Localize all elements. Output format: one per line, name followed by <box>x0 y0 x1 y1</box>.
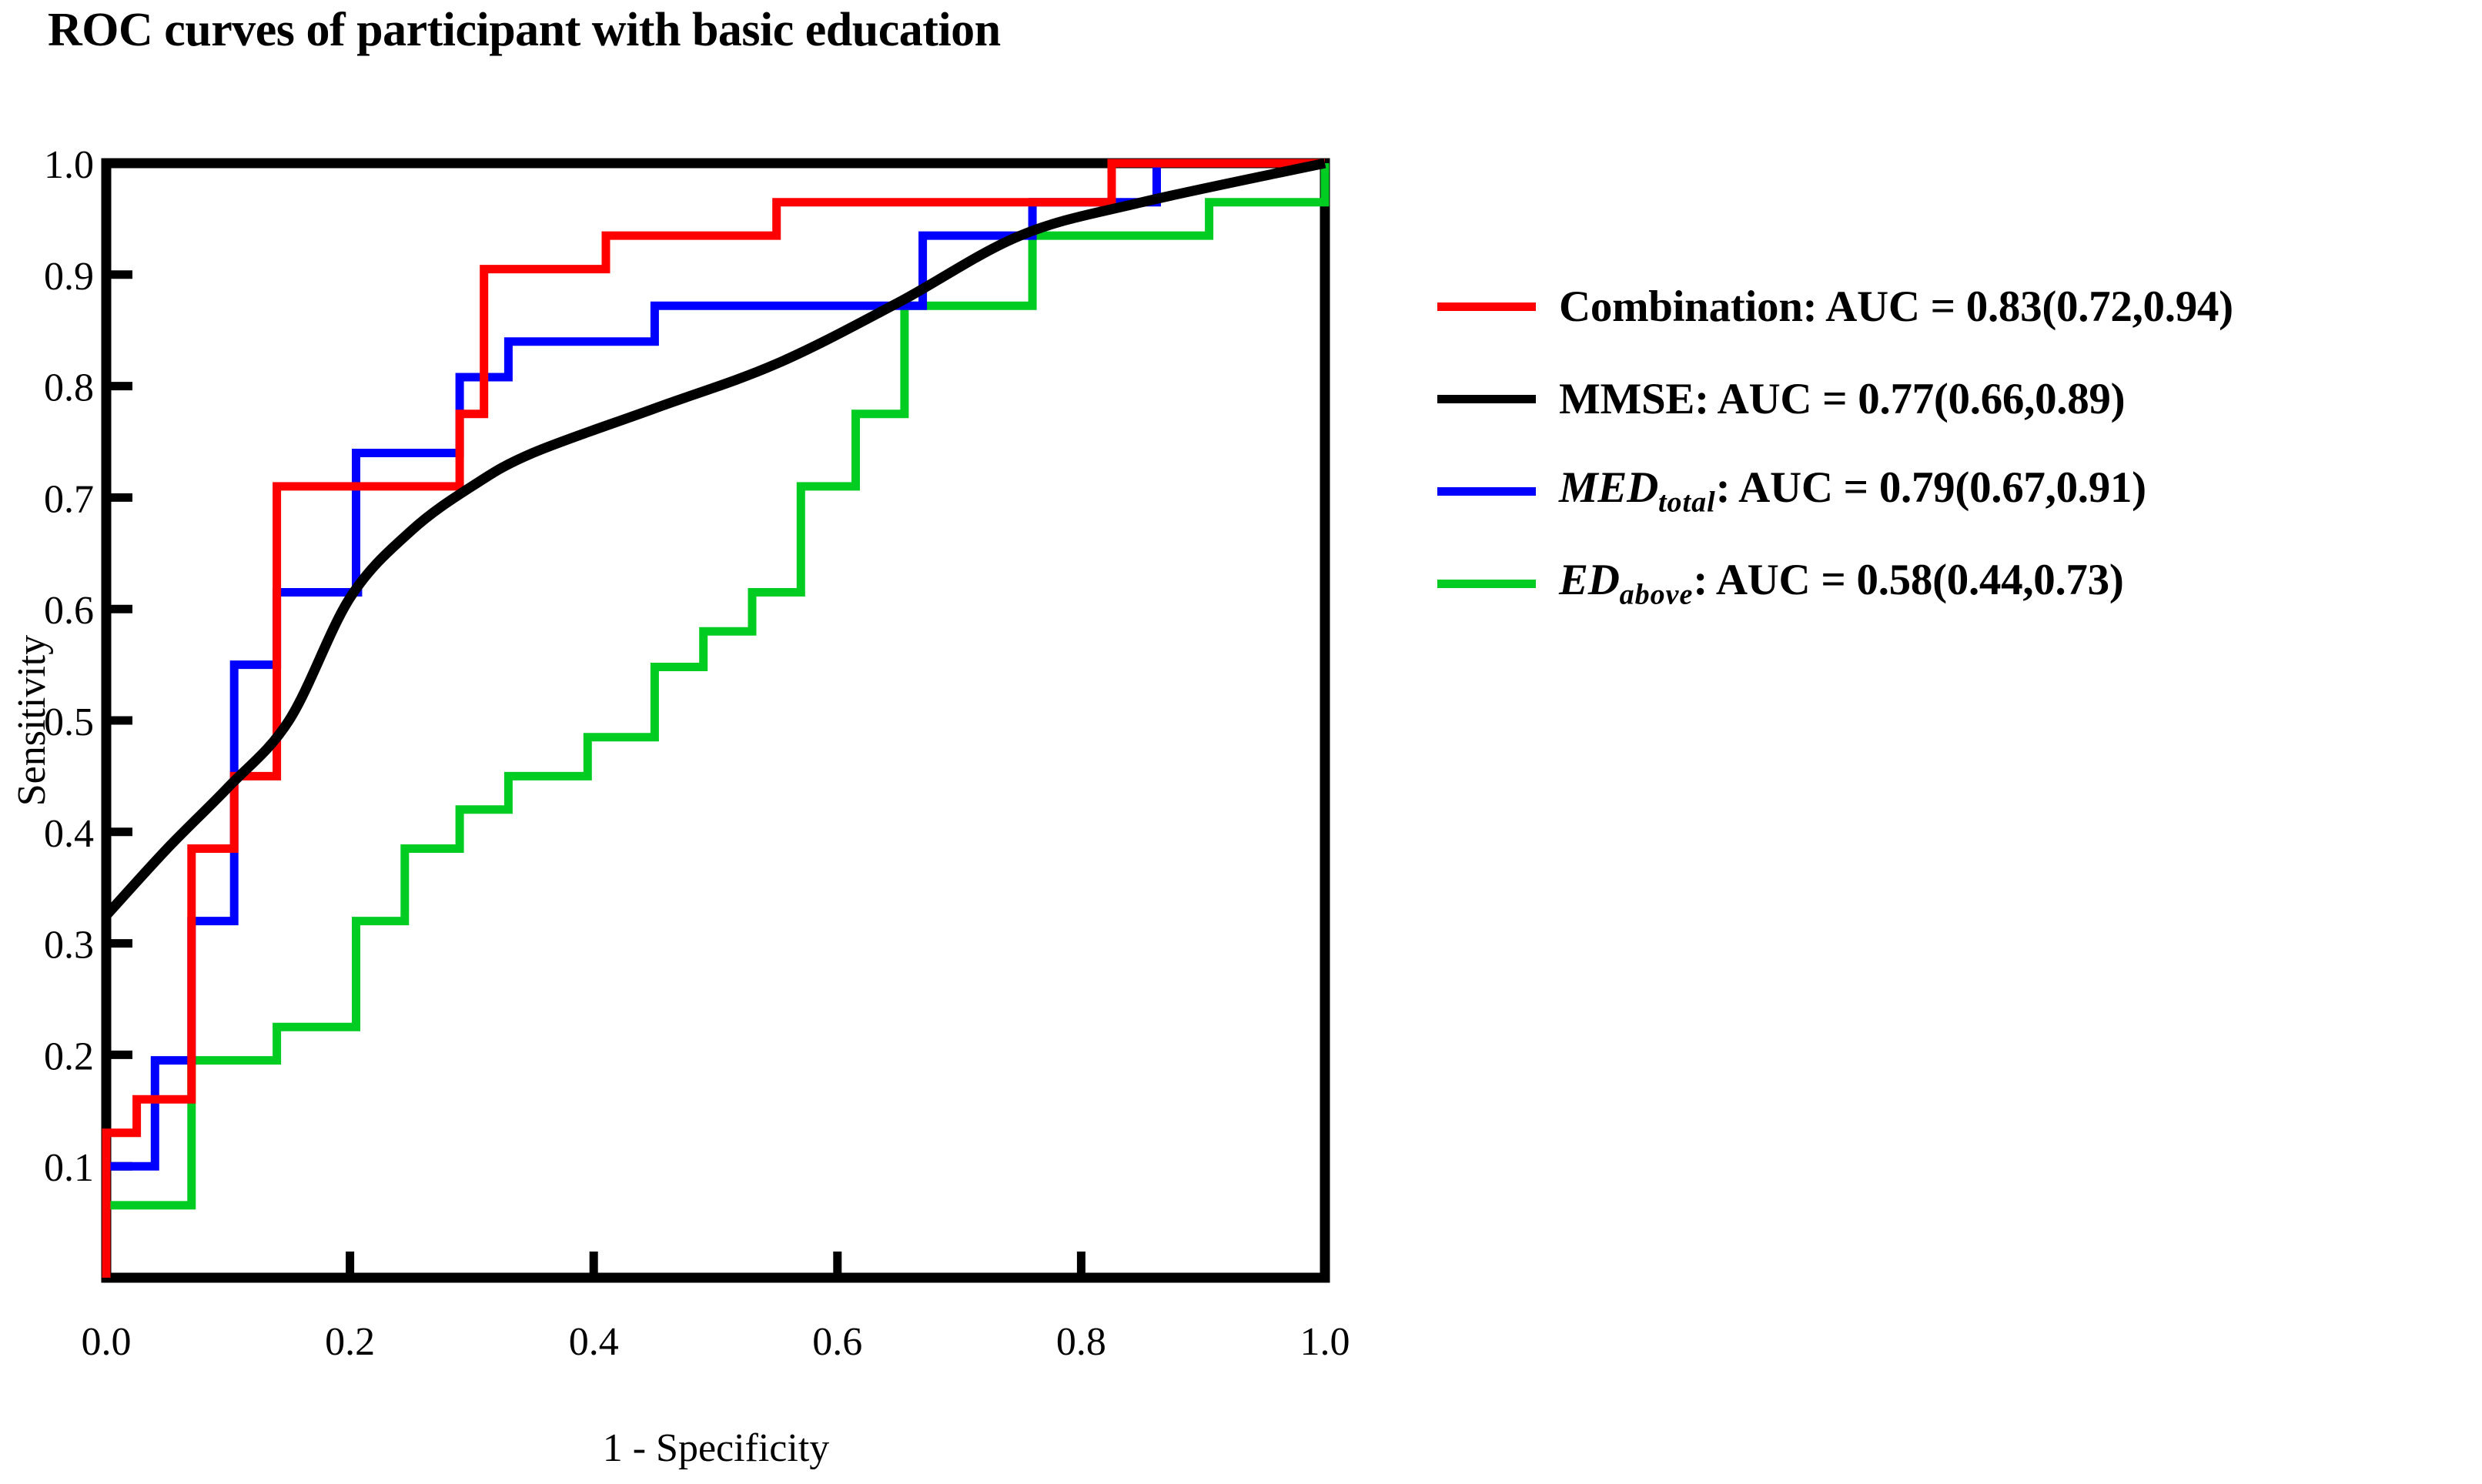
y-tick-label: 0.1 <box>44 1146 94 1190</box>
legend-ci-close-med-total: ) <box>2132 463 2146 512</box>
y-tick-label: 0.6 <box>44 589 94 633</box>
legend-auc-text-ed-above: : AUC = <box>1693 556 1856 604</box>
legend-line-swatch-mmse <box>1437 395 1536 403</box>
legend-ci-comma-ed-above: , <box>2022 556 2033 604</box>
legend-swatch-wrap-mmse <box>1420 395 1559 403</box>
legend-ci-comma-med-total: , <box>2045 463 2056 512</box>
legend-label-ed-above: EDabove: AUC = 0.58(0.44,0.73) <box>1559 555 2124 611</box>
x-tick-label: 0.0 <box>82 1320 132 1364</box>
roc-chart-page: ROC curves of participant with basic edu… <box>0 0 2482 1484</box>
y-tick-label: 0.8 <box>44 366 94 410</box>
legend-ci-comma-mmse: , <box>2024 375 2035 423</box>
legend: Combination: AUC = 0.83(0.72,0.94) MMSE:… <box>1420 260 2482 630</box>
legend-ci-open-ed-above: ( <box>1932 556 1947 604</box>
legend-subscript-med-total: total <box>1658 486 1716 519</box>
y-tick-label: 0.4 <box>44 812 94 856</box>
legend-ci-high-ed-above: 0.73 <box>2033 556 2109 604</box>
y-tick-label: 0.9 <box>44 255 94 299</box>
roc-plot-svg: 0.00.20.40.60.81.0 0.10.20.30.40.50.60.7… <box>0 0 1424 1484</box>
legend-ci-low-med-total: 0.67 <box>1969 463 2045 512</box>
legend-auc-value-mmse: 0.77 <box>1858 375 1934 423</box>
y-tick-label: 0.7 <box>44 477 94 521</box>
legend-ci-low-ed-above: 0.44 <box>1947 556 2023 604</box>
y-axis-title: Sensitivity <box>10 635 54 806</box>
legend-ci-open-mmse: ( <box>1934 375 1948 423</box>
legend-line-swatch-combination <box>1437 302 1536 311</box>
legend-ci-close-combination: ) <box>2219 282 2233 331</box>
legend-label-mmse: MMSE: AUC = 0.77(0.66,0.89) <box>1559 374 2125 424</box>
legend-auc-text-combination: : AUC = <box>1803 282 1966 331</box>
legend-auc-value-med-total: 0.79 <box>1879 463 1955 512</box>
legend-prefix-ed-above: ED <box>1559 556 1620 604</box>
legend-ci-close-ed-above: ) <box>2109 556 2124 604</box>
x-tick-label: 0.2 <box>325 1320 375 1364</box>
legend-label-med-total: MEDtotal: AUC = 0.79(0.67,0.91) <box>1559 463 2146 519</box>
x-tick-label: 0.4 <box>569 1320 619 1364</box>
x-axis-tick-labels: 0.00.20.40.60.81.0 <box>82 1320 1350 1364</box>
x-tick-label: 0.8 <box>1056 1320 1106 1364</box>
legend-label-combination: Combination: AUC = 0.83(0.72,0.94) <box>1559 282 2233 332</box>
legend-ci-low-mmse: 0.66 <box>1948 375 2025 423</box>
legend-item-med-total[interactable]: MEDtotal: AUC = 0.79(0.67,0.91) <box>1420 445 2482 537</box>
legend-item-combination[interactable]: Combination: AUC = 0.83(0.72,0.94) <box>1420 260 2482 353</box>
legend-swatch-wrap-ed-above <box>1420 580 1559 588</box>
legend-subscript-ed-above: above <box>1620 579 1694 611</box>
legend-ci-high-med-total: 0.91 <box>2056 463 2132 512</box>
legend-auc-text-mmse: : AUC = <box>1694 375 1858 423</box>
roc-curves <box>106 163 1325 1278</box>
legend-swatch-wrap-combination <box>1420 302 1559 311</box>
legend-prefix-med-total: MED <box>1559 463 1658 512</box>
legend-ci-low-combination: 0.72 <box>2056 282 2132 331</box>
legend-auc-value-ed-above: 0.58 <box>1857 556 1933 604</box>
y-tick-label: 0.2 <box>44 1034 94 1078</box>
legend-auc-value-combination: 0.83 <box>1966 282 2042 331</box>
y-tick-label: 0.3 <box>44 924 94 968</box>
legend-prefix-mmse: MMSE <box>1559 375 1694 423</box>
legend-swatch-wrap-med-total <box>1420 487 1559 496</box>
legend-prefix-combination: Combination <box>1559 282 1803 331</box>
legend-ci-comma-combination: , <box>2132 282 2143 331</box>
legend-item-ed-above[interactable]: EDabove: AUC = 0.58(0.44,0.73) <box>1420 537 2482 630</box>
legend-line-swatch-ed-above <box>1437 580 1536 588</box>
legend-item-mmse[interactable]: MMSE: AUC = 0.77(0.66,0.89) <box>1420 353 2482 445</box>
legend-ci-high-combination: 0.94 <box>2143 282 2219 331</box>
legend-line-swatch-med-total <box>1437 487 1536 496</box>
x-axis-title: 1 - Specificity <box>603 1426 830 1470</box>
legend-ci-close-mmse: ) <box>2111 375 2126 423</box>
legend-ci-high-mmse: 0.89 <box>2035 375 2111 423</box>
legend-ci-open-combination: ( <box>2042 282 2056 331</box>
y-tick-label: 1.0 <box>44 143 94 187</box>
x-tick-label: 1.0 <box>1300 1320 1350 1364</box>
legend-auc-text-med-total: : AUC = <box>1716 463 1879 512</box>
legend-ci-open-med-total: ( <box>1955 463 1969 512</box>
plot-area: 0.00.20.40.60.81.0 0.10.20.30.40.50.60.7… <box>0 0 1424 1484</box>
x-tick-label: 0.6 <box>812 1320 862 1364</box>
roc-curve-mmse <box>106 163 1325 915</box>
